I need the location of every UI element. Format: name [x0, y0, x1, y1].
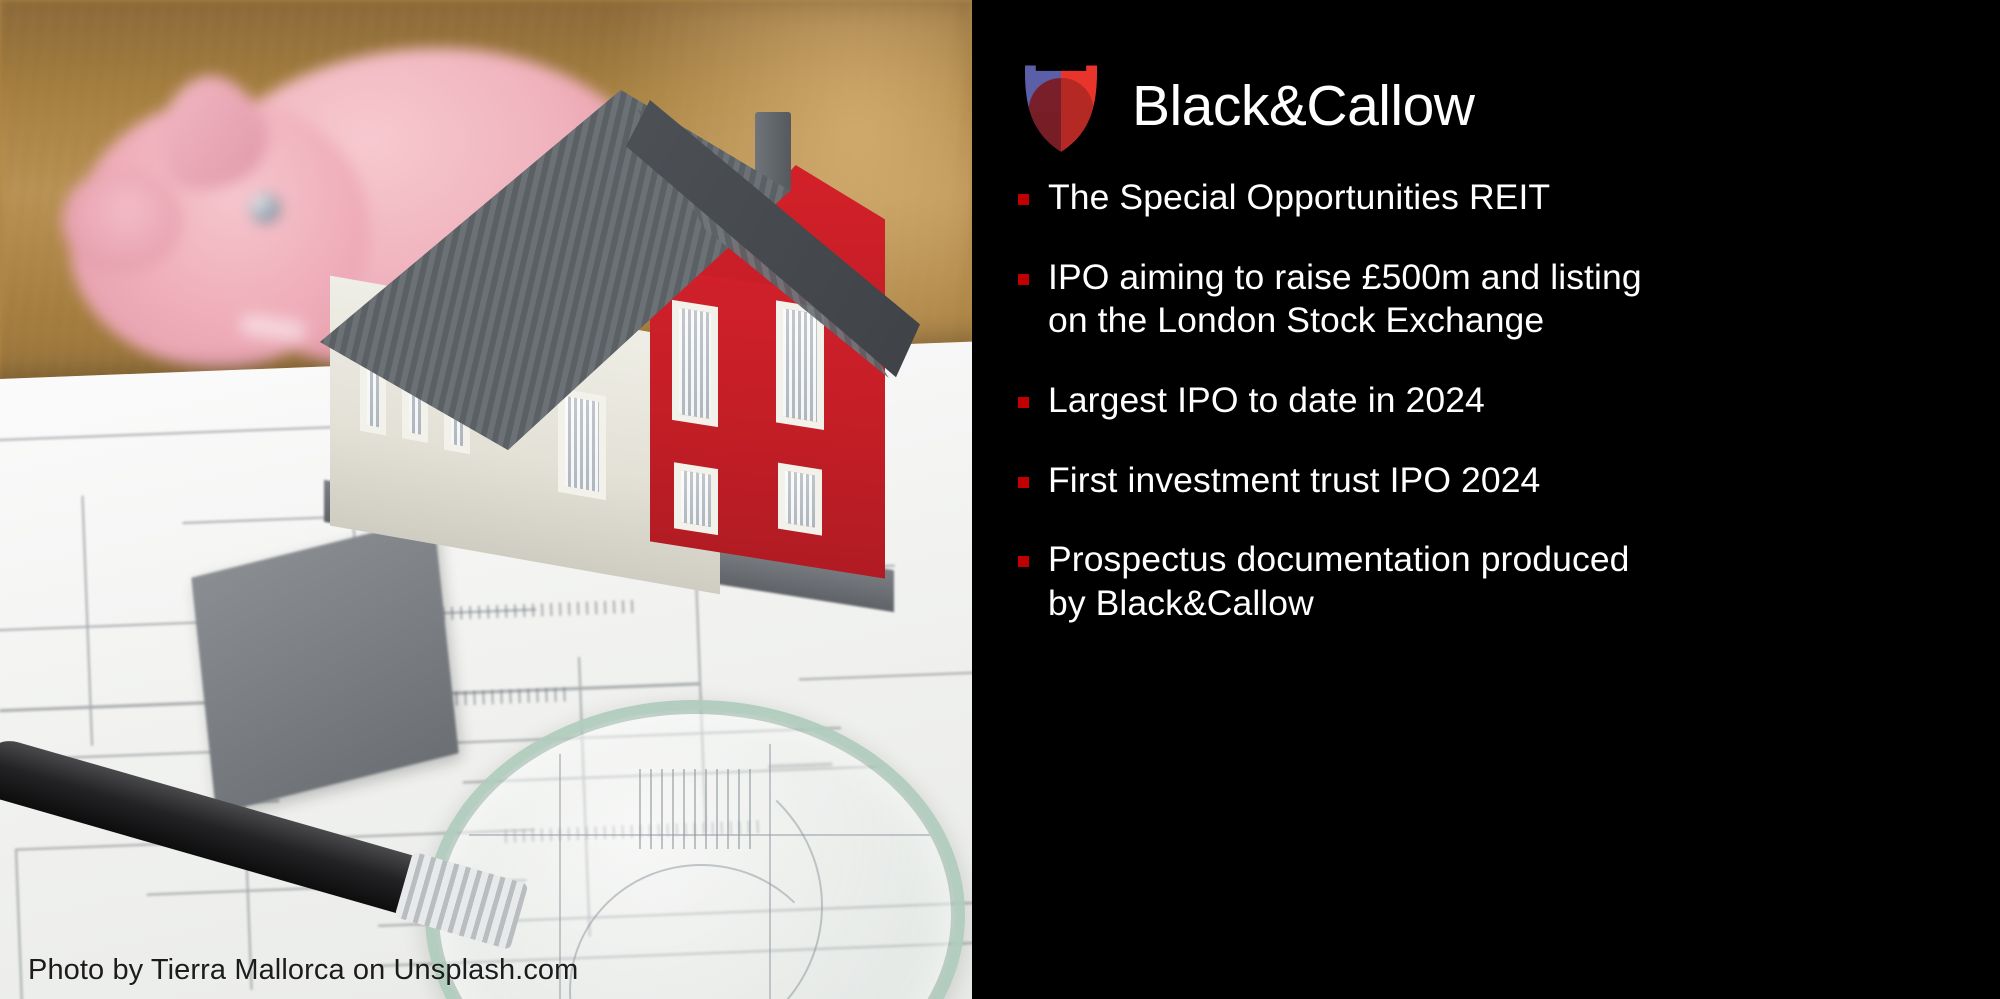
house-window [672, 300, 718, 427]
house-window [778, 463, 822, 536]
pen-grip [394, 851, 528, 949]
bullet-text: IPO aiming to raise £500m and listing on… [1048, 256, 1648, 343]
window-blind [783, 308, 817, 421]
bullet-square-icon [1018, 397, 1029, 408]
piggy-snout [62, 168, 182, 273]
brand-lockup: Black&Callow [1016, 58, 1474, 154]
presentation-slide: Photo by Tierra Mallorca on Unsplash.com [0, 0, 2000, 999]
shield-logo-icon [1016, 58, 1106, 154]
bullet-item: Prospectus documentation produced by Bla… [1018, 538, 1960, 625]
bullet-item: IPO aiming to raise £500m and listing on… [1018, 256, 1960, 343]
photo-pane: Photo by Tierra Mallorca on Unsplash.com [0, 0, 972, 999]
window-blind [785, 471, 815, 528]
bullet-text: First investment trust IPO 2024 [1048, 459, 1540, 503]
bullet-item: First investment trust IPO 2024 [1018, 459, 1960, 503]
house-window [674, 462, 718, 535]
bullet-square-icon [1018, 556, 1029, 567]
bullet-square-icon [1018, 477, 1029, 488]
model-house [320, 70, 920, 590]
piggy-eye [250, 193, 280, 223]
bullet-text: Largest IPO to date in 2024 [1048, 379, 1485, 423]
bullet-text: The Special Opportunities REIT [1048, 176, 1550, 220]
bullet-square-icon [1018, 274, 1029, 285]
window-blind [681, 470, 711, 527]
brand-name: Black&Callow [1132, 73, 1474, 139]
bullet-item: Largest IPO to date in 2024 [1018, 379, 1960, 423]
photo-credit: Photo by Tierra Mallorca on Unsplash.com [28, 954, 578, 987]
bullet-list: The Special Opportunities REIT IPO aimin… [1018, 176, 1960, 662]
bullet-square-icon [1018, 194, 1029, 205]
house-window [776, 300, 824, 430]
window-blind [565, 396, 599, 492]
bullet-text: Prospectus documentation produced by Bla… [1048, 538, 1648, 625]
house-window [558, 388, 606, 500]
bullet-item: The Special Opportunities REIT [1018, 176, 1960, 220]
content-pane: Black&Callow The Special Opportunities R… [972, 0, 2000, 999]
window-blind [679, 308, 711, 419]
